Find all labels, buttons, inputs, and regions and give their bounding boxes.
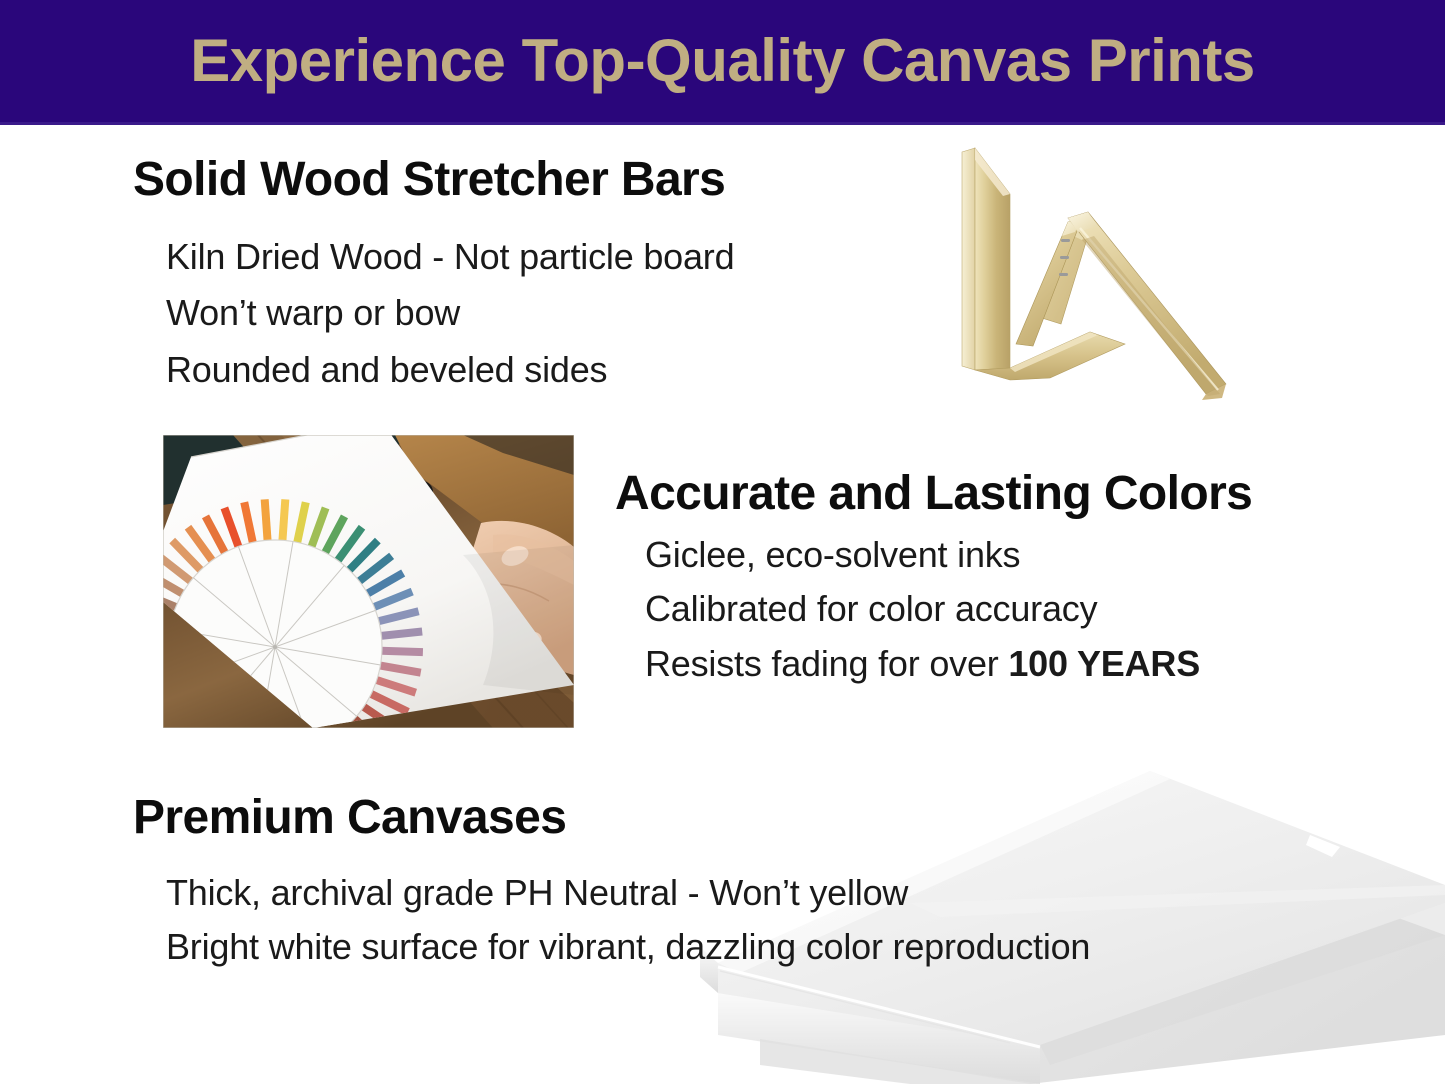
wooden-stretcher-bars-photo xyxy=(930,132,1240,404)
bullet-canvas-2: Bright white surface for vibrant, dazzli… xyxy=(166,926,1090,968)
bullet-colors-2: Calibrated for color accuracy xyxy=(645,588,1097,630)
infographic-page: Experience Top-Quality Canvas Prints xyxy=(0,0,1445,1084)
bullet-colors-1: Giclee, eco-solvent inks xyxy=(645,534,1020,576)
bullet-colors-3-emphasis: 100 YEARS xyxy=(1008,643,1200,684)
section-heading-accurate-colors: Accurate and Lasting Colors xyxy=(615,466,1252,521)
color-wheel-chart-photo xyxy=(163,435,574,728)
page-title: Experience Top-Quality Canvas Prints xyxy=(0,0,1445,122)
section-heading-premium-canvases: Premium Canvases xyxy=(133,790,566,845)
bullet-wood-2: Won’t warp or bow xyxy=(166,292,460,334)
section-heading-solid-wood: Solid Wood Stretcher Bars xyxy=(133,152,725,207)
bullet-wood-3: Rounded and beveled sides xyxy=(166,349,607,391)
bullet-colors-3: Resists fading for over 100 YEARS xyxy=(645,643,1200,685)
bullet-colors-3-text: Resists fading for over 100 YEARS xyxy=(645,643,1200,684)
bullet-wood-1: Kiln Dried Wood - Not particle board xyxy=(166,236,734,278)
bullet-canvas-1: Thick, archival grade PH Neutral - Won’t… xyxy=(166,872,908,914)
